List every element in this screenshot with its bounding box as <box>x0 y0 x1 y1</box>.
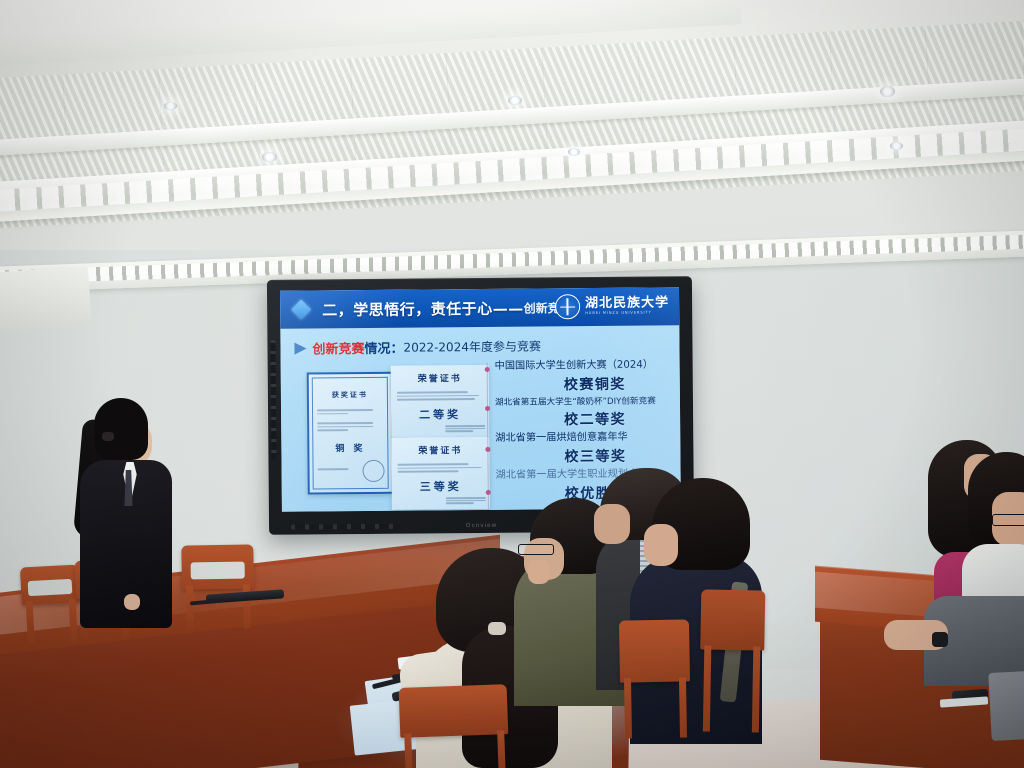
wristwatch <box>932 632 948 647</box>
certificate-issuer-block <box>446 496 486 505</box>
certificate-image-1: 获奖证书 铜 奖 <box>307 372 394 495</box>
chair-back-slot <box>190 562 245 580</box>
university-name-en: HUBEI MINZU UNIVERSITY <box>585 312 669 316</box>
certificate-award-3: 三等奖 <box>392 478 490 495</box>
chair-leg-right <box>752 646 760 732</box>
certificate-image-3: 荣誉证书 三等奖 <box>391 437 490 510</box>
certificate-text-line <box>398 467 482 469</box>
certificate-header-3: 荣誉证书 <box>391 443 489 457</box>
certificate-header-2: 荣誉证书 <box>391 371 489 385</box>
award-name-3: 校三等奖 <box>495 447 681 467</box>
bullet-dot-column <box>485 367 493 512</box>
ceiling-light-4 <box>568 148 580 156</box>
slide-title-text: 二，学思悟行，责任于心—— <box>322 297 524 320</box>
arrow-bullet-icon <box>294 342 306 354</box>
university-emblem-icon <box>555 294 580 319</box>
bullet-dot <box>486 490 491 495</box>
university-name-cn: 湖北民族大学 <box>585 297 669 311</box>
bullet-dot <box>485 406 490 411</box>
chair-leg-right <box>497 730 505 768</box>
ceiling-soffit <box>0 266 92 334</box>
subtitle-label: 情况： <box>364 338 403 357</box>
audience-face <box>594 504 630 544</box>
chair-foreground-3 <box>699 589 766 740</box>
ceiling-light-6 <box>890 142 903 150</box>
chair-empty-3 <box>181 544 254 631</box>
audience-face <box>644 524 678 566</box>
certificate-seal-icon <box>362 460 384 482</box>
chair-leg-left <box>703 646 711 732</box>
chair-leg-left <box>624 678 632 738</box>
competition-name-1: 中国国际大学生创新大赛（2024） <box>495 359 681 373</box>
display-side-buttons[interactable] <box>270 340 276 460</box>
presenter-hands <box>124 594 140 610</box>
bullet-dot <box>485 447 490 452</box>
certificate-text-line <box>446 502 474 504</box>
presenter <box>72 398 182 628</box>
certificate-text-line <box>397 391 468 393</box>
presenter-hair-tie <box>102 432 114 441</box>
chair-backrest <box>619 619 690 682</box>
chair-foreground-2 <box>619 619 691 740</box>
slide-title-bar: 二，学思悟行，责任于心—— 创新竞赛 湖北民族大学 HUBEI MINZU UN… <box>280 287 679 328</box>
eyeglasses-icon <box>518 544 554 555</box>
hair-tie <box>488 622 506 635</box>
ceiling-light-2 <box>262 152 277 162</box>
subtitle-detail: 2022-2024年度参与竞赛 <box>403 337 541 355</box>
chair-leg-left <box>26 601 35 645</box>
chair-back-slot <box>28 579 73 596</box>
chair-backrest <box>700 589 765 650</box>
chair-leg-left <box>404 733 412 768</box>
competition-name-3: 湖北省第一届烘焙创意嘉年华 <box>495 431 681 445</box>
slide-subtitle-row: 创新竞赛 情况： 2022-2024年度参与竞赛 <box>294 336 541 357</box>
certificate-text-line <box>397 398 475 400</box>
certificate-text-line <box>398 470 459 472</box>
certificate-text-line <box>445 425 485 427</box>
ceiling-light-1 <box>164 102 177 110</box>
certificate-text-line <box>445 430 473 432</box>
chair-foreground-1 <box>399 684 510 768</box>
certificate-text-line <box>445 428 485 430</box>
chair-backrest <box>399 684 509 738</box>
competition-name-2: 湖北省第五届大学生“酸奶杯”DIY创新竞赛 <box>495 396 681 408</box>
certificate-text-line <box>398 463 469 465</box>
audience-hand <box>528 560 550 584</box>
chair-leg-left <box>186 585 194 629</box>
certificate-award-2: 二等奖 <box>391 406 489 423</box>
award-name-2: 校二等奖 <box>495 410 681 430</box>
certificate-text-line <box>446 497 486 499</box>
eyeglasses-icon <box>992 514 1024 526</box>
certificate-image-2: 荣誉证书 二等奖 <box>391 365 490 438</box>
subtitle-highlight: 创新竞赛 <box>312 338 364 357</box>
ceiling-light-3 <box>508 96 522 105</box>
university-logo: 湖北民族大学 HUBEI MINZU UNIVERSITY <box>555 293 669 319</box>
chair-leg-right <box>679 677 687 737</box>
diamond-bullet-icon <box>291 300 311 320</box>
bullet-dot <box>485 367 490 372</box>
certificate-text-line <box>446 500 486 502</box>
bag-on-table <box>988 671 1024 741</box>
presenter-hair <box>94 398 148 460</box>
certificate-issuer-block <box>445 424 485 433</box>
award-name-1: 校赛铜奖 <box>495 375 681 395</box>
ceiling-light-5 <box>880 86 895 97</box>
photo-scene: Ocnview 二，学思悟行，责任于心—— 创新竞赛 湖北民族大学 HUBEI … <box>0 0 1024 768</box>
certificate-text-line <box>397 395 479 397</box>
